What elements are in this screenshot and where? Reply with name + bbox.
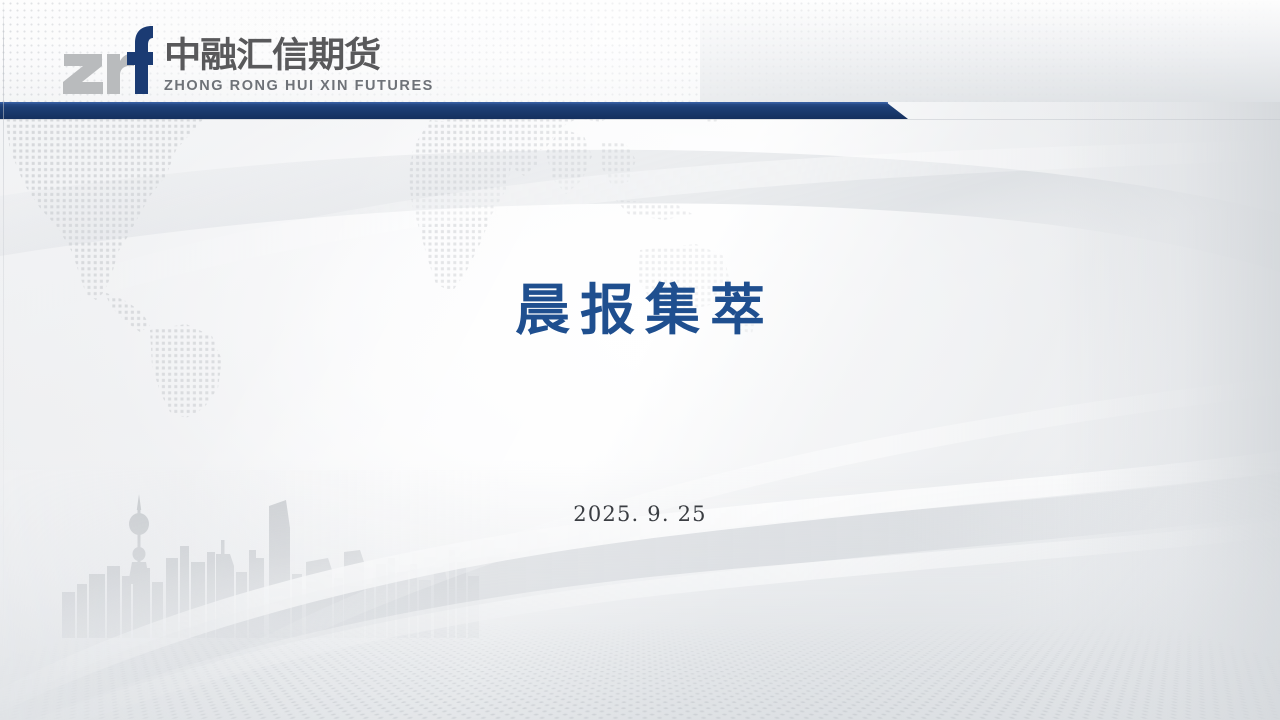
svg-text:中融汇信期货: 中融汇信期货 [164, 36, 380, 75]
header-divider [0, 119, 1280, 120]
company-name-en: ZHONG RONG HUI XIN FUTURES [164, 79, 434, 94]
slide-date: 2025. 9. 25 [0, 502, 1280, 527]
header-accent-bar [0, 102, 908, 119]
title-block: 晨报集萃 [0, 278, 1280, 341]
zrf-logo-mark [62, 24, 154, 94]
company-logo: 中融汇信期货 ZHONG RONG HUI XIN FUTURES [62, 24, 434, 94]
slide-header: 中融汇信期货 ZHONG RONG HUI XIN FUTURES [0, 0, 1280, 120]
left-edge-rule [3, 0, 4, 720]
background-bottom-shade [0, 460, 1280, 720]
presentation-slide: 中融汇信期货 ZHONG RONG HUI XIN FUTURES 晨报集萃 2… [0, 0, 1280, 720]
date-block: 2025. 9. 25 [0, 502, 1280, 527]
page-title: 晨报集萃 [0, 278, 1280, 341]
company-name-cn: 中融汇信期货 [164, 35, 382, 75]
logo-text-block: 中融汇信期货 ZHONG RONG HUI XIN FUTURES [164, 35, 434, 94]
